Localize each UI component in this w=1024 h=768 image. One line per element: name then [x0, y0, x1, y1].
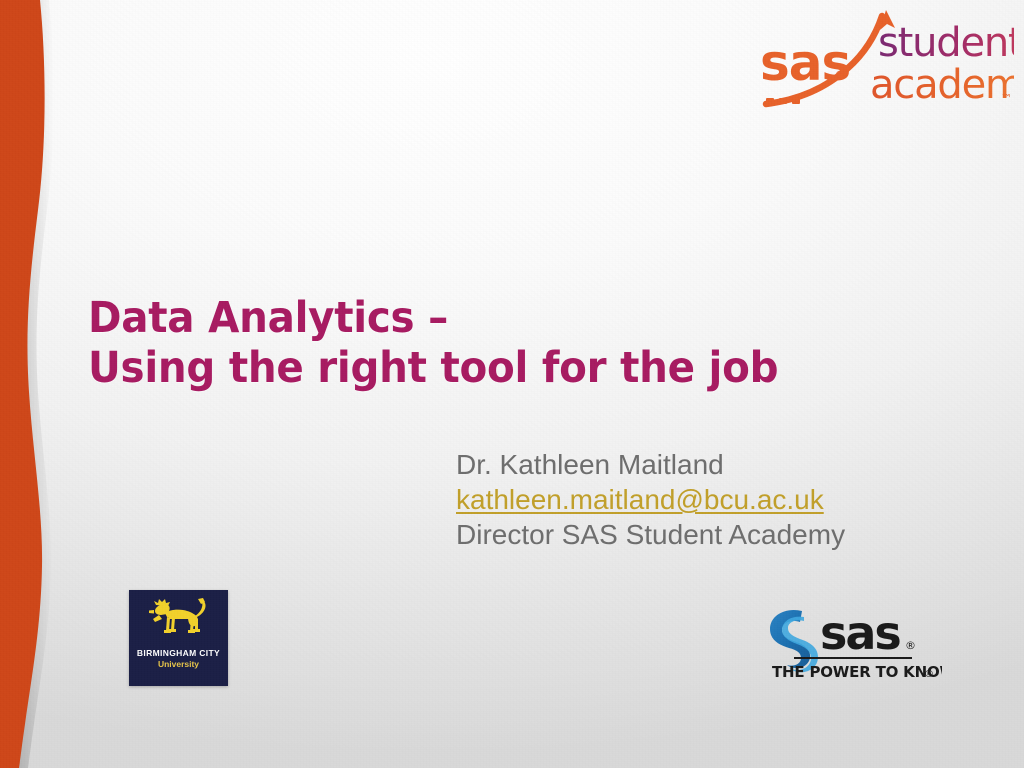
sas-corporate-logo: sas ® THE POWER TO KNOW ® [762, 597, 942, 687]
svg-text:®: ® [924, 669, 934, 680]
page-title: Data Analytics – Using the right tool fo… [88, 293, 968, 393]
svg-text:student: student [878, 20, 1014, 66]
title-line-1: Data Analytics – [88, 293, 915, 343]
bcu-logo-line-1: BIRMINGHAM CITY [137, 648, 220, 659]
birmingham-city-university-logo: BIRMINGHAM CITY University [129, 590, 228, 686]
orange-wave-band [0, 0, 70, 768]
bcu-logo-line-2: University [158, 659, 199, 670]
svg-text:THE POWER TO KNOW: THE POWER TO KNOW [772, 663, 942, 681]
svg-text:™: ™ [1001, 92, 1012, 105]
svg-text:academy: academy [870, 62, 1014, 108]
presenter-role: Director SAS Student Academy [456, 517, 976, 552]
presenter-name: Dr. Kathleen Maitland [456, 447, 976, 482]
svg-text:sas: sas [820, 606, 900, 660]
title-line-2: Using the right tool for the job [88, 343, 915, 393]
presenter-email-link[interactable]: kathleen.maitland@bcu.ac.uk [456, 482, 976, 517]
presentation-slide: sas ® student academy ™ Data Analytics –… [0, 0, 1024, 768]
heraldic-lion-icon [145, 597, 213, 639]
sas-student-academy-logo: sas ® student academy ™ [752, 8, 1014, 116]
svg-text:®: ® [905, 639, 916, 652]
presenter-details: Dr. Kathleen Maitland kathleen.maitland@… [456, 447, 976, 552]
svg-text:®: ® [834, 69, 847, 84]
